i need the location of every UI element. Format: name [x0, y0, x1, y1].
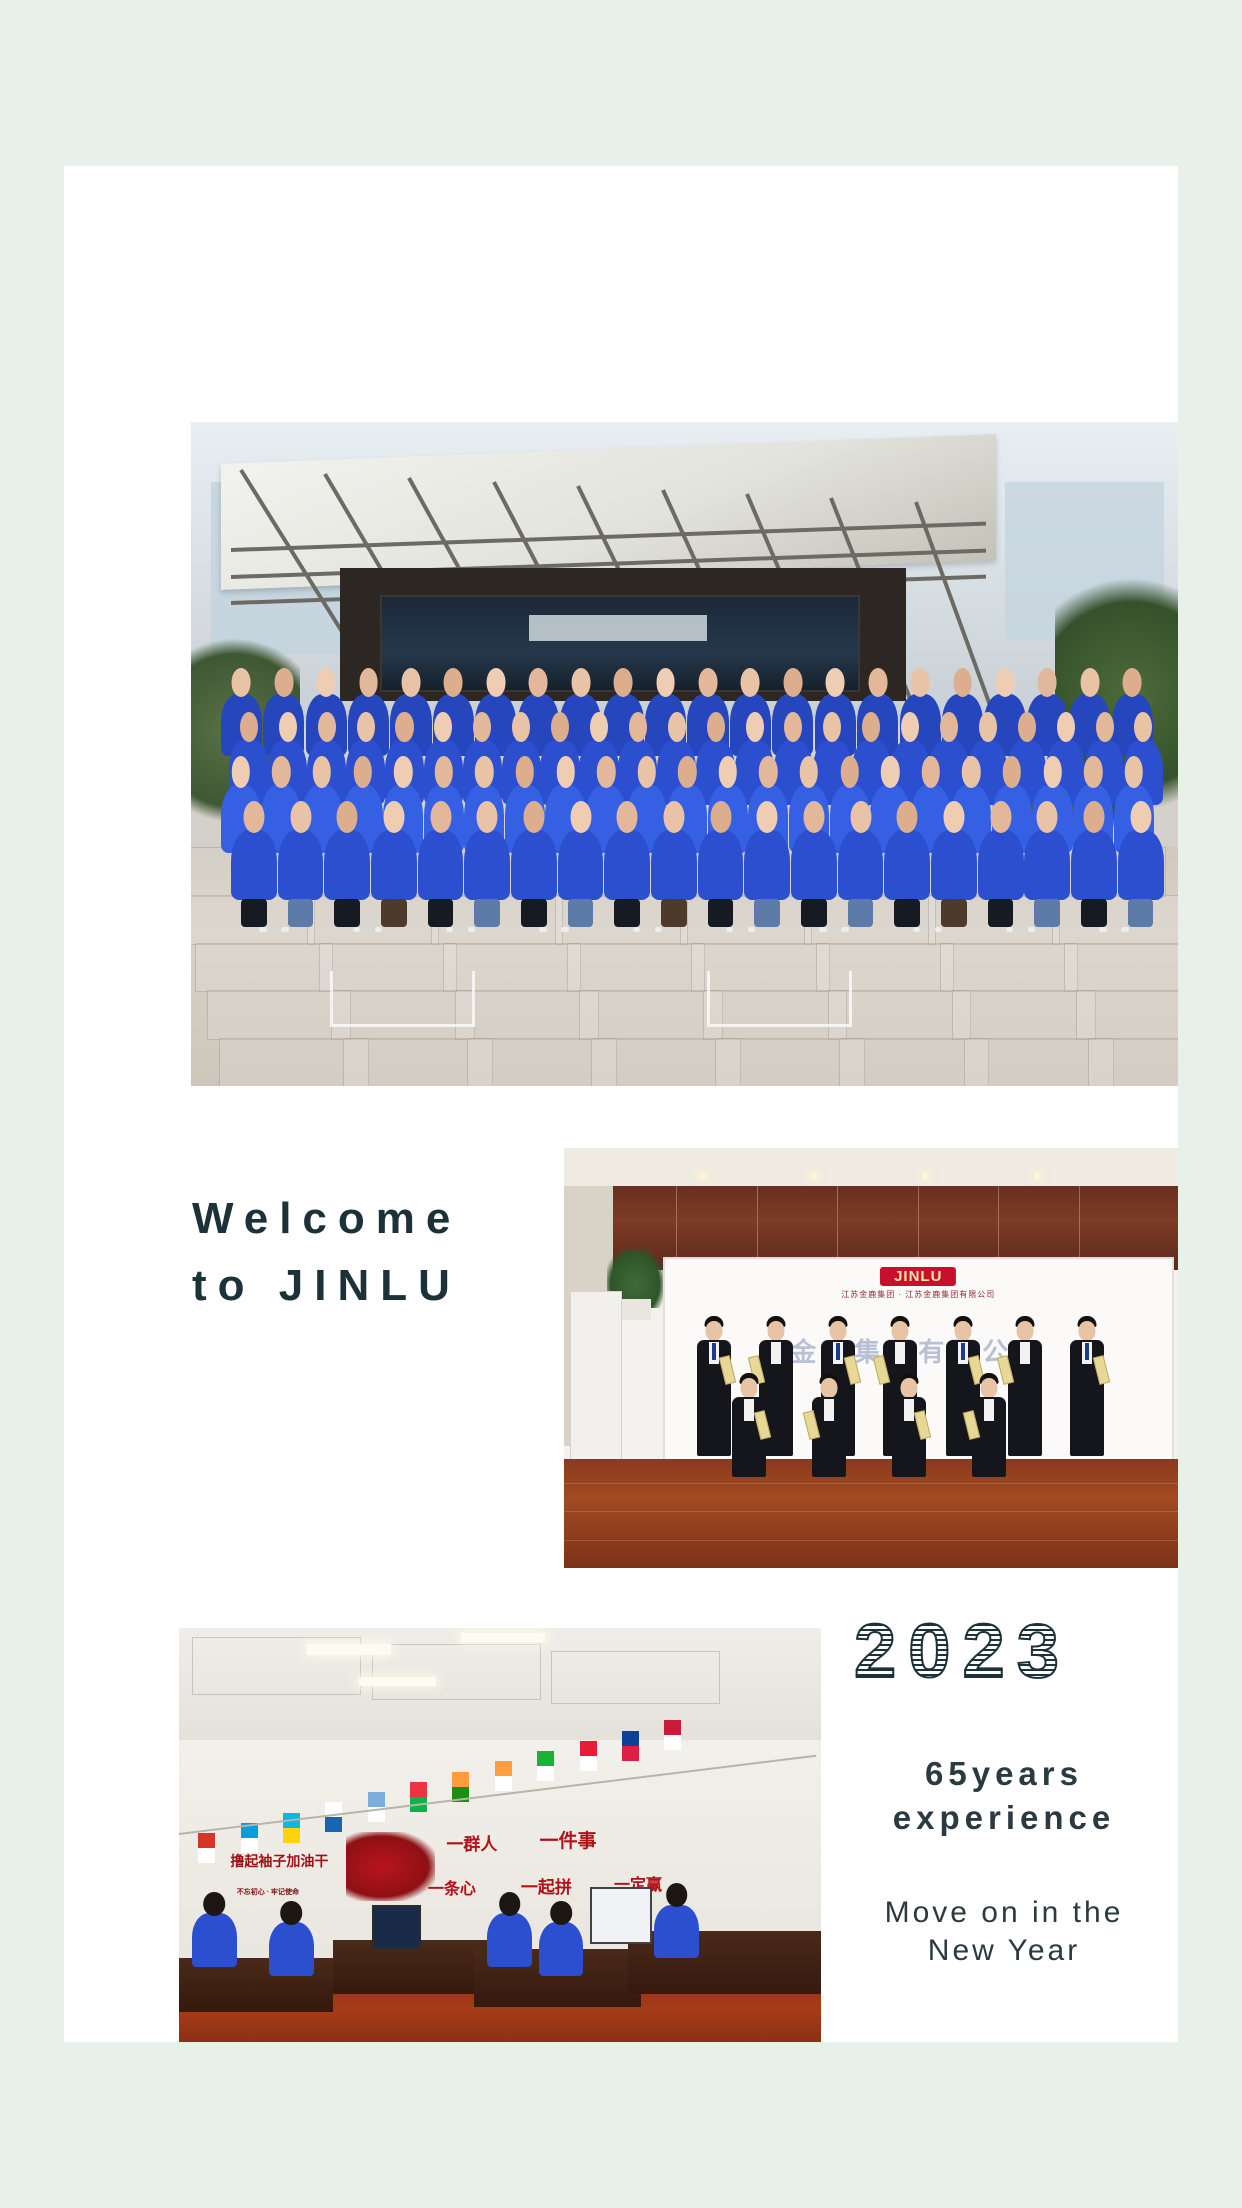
- photo3-monitor: [372, 1905, 421, 1949]
- photo1-staff-member: [604, 830, 650, 900]
- award-ceremony-photo: JINLU 江苏金鹿集团 · 江苏金鹿集团有限公司 金鹿集团有限公司: [564, 1148, 1178, 1568]
- photo1-staff-shoe: [655, 927, 662, 933]
- photo1-paving-tile: [307, 895, 439, 945]
- photo1-staff-member: [1024, 830, 1070, 900]
- photo3-ceiling-light: [307, 1644, 390, 1654]
- photo1-staff-member: [698, 830, 744, 900]
- photo3-slogan-line1b: 一件事: [540, 1826, 597, 1853]
- photo2-team-member-seated: [963, 1373, 1016, 1517]
- photo2-necktie: [712, 1343, 716, 1360]
- photo3-left-slogan: 撸起袖子加油干: [230, 1851, 328, 1871]
- tagline-line-2: New Year: [804, 1932, 1178, 1970]
- photo2-team-member-seated: [803, 1373, 856, 1517]
- photo3-country-flag: [325, 1802, 342, 1832]
- photo1-staff-legs: [474, 899, 500, 927]
- photo2-jinlu-logo: JINLU 江苏金鹿集团 · 江苏金鹿集团有限公司: [841, 1267, 995, 1300]
- photo1-staff-shoe: [353, 927, 360, 933]
- photo2-shirt: [984, 1399, 994, 1421]
- photo1-staff-member: [511, 830, 557, 900]
- photo3-ceiling-light: [359, 1677, 436, 1686]
- photo3-country-flag: [622, 1731, 639, 1761]
- tagline-line-1: Move on in the: [804, 1894, 1178, 1932]
- photo2-head: [767, 1321, 784, 1341]
- experience-block: 65years experience: [824, 1752, 1178, 1840]
- photo3-country-flag: [283, 1813, 300, 1843]
- photo1-staff-shoe: [561, 927, 568, 933]
- photo1-staff-legs: [1128, 899, 1154, 927]
- photo1-paving-tile: [1076, 990, 1178, 1040]
- photo1-staff-member: [324, 830, 370, 900]
- experience-line-2: experience: [824, 1796, 1178, 1840]
- photo3-employee: [192, 1913, 237, 1967]
- photo1-paving-tile: [195, 943, 333, 993]
- photo1-staff-legs: [381, 899, 407, 927]
- photo1-staff-shoe: [841, 927, 848, 933]
- photo3-country-flag: [495, 1761, 512, 1791]
- photo2-head: [1016, 1321, 1033, 1341]
- group-photo-building-entrance: [191, 422, 1178, 1086]
- photo1-staff-member: [1071, 830, 1117, 900]
- photo2-head: [830, 1321, 847, 1341]
- photo1-staff-crowd: [221, 694, 1154, 900]
- photo1-paving-tile: [952, 990, 1096, 1040]
- photo1-staff-member: [931, 830, 977, 900]
- photo1-staff-legs: [521, 899, 547, 927]
- photo2-head: [705, 1321, 722, 1341]
- photo1-staff-shoe: [259, 927, 266, 933]
- year-heading: 2023: [854, 1614, 1071, 1690]
- photo2-head: [954, 1321, 971, 1341]
- photo2-logo-subtitle: 江苏金鹿集团 · 江苏金鹿集团有限公司: [841, 1289, 995, 1300]
- photo1-staff-member: [651, 830, 697, 900]
- photo1-staff-legs: [848, 899, 874, 927]
- photo3-country-flag: [198, 1833, 215, 1863]
- photo3-employee: [269, 1922, 314, 1976]
- photo1-staff-member: [278, 830, 324, 900]
- photo1-paving-tile: [1064, 943, 1178, 993]
- photo1-staff-member: [1118, 830, 1164, 900]
- photo1-staff-member: [558, 830, 604, 900]
- photo2-head: [821, 1378, 838, 1398]
- photo1-staff-legs: [241, 899, 267, 927]
- photo2-head: [1079, 1321, 1096, 1341]
- photo3-country-flag: [664, 1720, 681, 1750]
- photo2-team-members: [669, 1316, 1114, 1534]
- photo1-staff-legs: [708, 899, 734, 927]
- photo1-staff-member: [371, 830, 417, 900]
- photo3-employee: [487, 1913, 532, 1967]
- photo1-paving-tile: [455, 990, 599, 1040]
- photo3-country-flag: [410, 1782, 427, 1812]
- photo3-slogan-line2b: 一起拼: [521, 1873, 572, 1898]
- photo3-country-flag: [241, 1823, 258, 1853]
- tagline-block: Move on in the New Year: [804, 1894, 1178, 1971]
- photo1-paving-tile: [940, 943, 1078, 993]
- photo3-monitor: [590, 1887, 652, 1945]
- photo1-staff-legs: [334, 899, 360, 927]
- headline-line-1: Welcome: [192, 1194, 461, 1243]
- photo2-head: [901, 1378, 918, 1398]
- photo1-staff-shoe: [375, 927, 382, 933]
- photo3-red-calligraphy: [346, 1832, 435, 1901]
- photo1-staff-legs: [941, 899, 967, 927]
- photo1-staff-shoe: [633, 927, 640, 933]
- photo2-plant-pot: [620, 1299, 651, 1320]
- photo1-staff-member: [464, 830, 510, 900]
- photo1-staff-legs: [801, 899, 827, 927]
- photo1-staff-member: [418, 830, 464, 900]
- photo1-staff-legs: [661, 899, 687, 927]
- photo2-head: [981, 1378, 998, 1398]
- photo3-employee: [539, 1922, 584, 1976]
- photo3-slogan-line1a: 一群人: [446, 1830, 497, 1855]
- office-interior-photo: 一群人 一件事 一条心 一起拼 一定赢 撸起袖子加油干 不忘初心 · 牢记使命: [179, 1628, 821, 2042]
- photo1-staff-legs: [754, 899, 780, 927]
- photo1-staff-legs: [614, 899, 640, 927]
- photo1-staff-member: [884, 830, 930, 900]
- photo1-staff-member: [978, 830, 1024, 900]
- photo2-necktie: [1085, 1343, 1089, 1360]
- poster-card: Welcome to JINLU JINLU 江苏金鹿集团 · 江苏金鹿集团有限…: [64, 166, 1178, 2042]
- photo2-shirt: [1020, 1342, 1030, 1364]
- photo2-necktie: [961, 1343, 965, 1360]
- photo3-employee: [654, 1905, 699, 1959]
- photo1-paving-tile: [680, 895, 812, 945]
- photo2-shirt: [744, 1399, 754, 1421]
- photo1-staff-shoe: [281, 927, 288, 933]
- headline-line-2: to JINLU: [192, 1253, 612, 1320]
- photo1-staff-member: [838, 830, 884, 900]
- photo3-left-subslogan: 不忘初心 · 牢记使命: [237, 1887, 299, 1897]
- photo3-ceiling-light: [461, 1633, 544, 1642]
- photo3-country-flag: [537, 1751, 554, 1781]
- photo2-shirt: [824, 1399, 834, 1421]
- photo1-staff-legs: [988, 899, 1014, 927]
- photo1-staff-shoe: [913, 927, 920, 933]
- photo1-staff-shoe: [539, 927, 546, 933]
- photo1-staff-legs: [1081, 899, 1107, 927]
- photo1-staff-legs: [1034, 899, 1060, 927]
- photo3-slogan-line2a: 一条心: [428, 1875, 476, 1899]
- photo1-staff-legs: [428, 899, 454, 927]
- photo1-staff-shoe: [1121, 927, 1128, 933]
- photo1-paving-tile: [1088, 1038, 1178, 1086]
- photo3-country-flag: [580, 1741, 597, 1771]
- photo1-staff-shoe: [935, 927, 942, 933]
- photo2-logo-text: JINLU: [880, 1267, 956, 1286]
- photo1-staff-shoe: [1099, 927, 1106, 933]
- photo2-team-member-seated: [722, 1373, 775, 1517]
- photo2-shirt: [895, 1342, 905, 1364]
- photo2-necktie: [836, 1343, 840, 1360]
- photo1-staff-shoe: [819, 927, 826, 933]
- photo1-staff-legs: [894, 899, 920, 927]
- photo1-staff-member: [231, 830, 277, 900]
- photo2-head: [741, 1378, 758, 1398]
- photo1-staff-member: [744, 830, 790, 900]
- photo2-team-member-seated: [883, 1373, 936, 1517]
- photo1-paving-tile: [567, 943, 705, 993]
- photo1-staff-legs: [288, 899, 314, 927]
- photo2-shirt: [771, 1342, 781, 1364]
- headline-welcome: Welcome to JINLU: [192, 1186, 612, 1320]
- photo2-head: [892, 1321, 909, 1341]
- photo1-parking-line: [330, 971, 475, 1027]
- photo2-team-member: [1061, 1316, 1114, 1504]
- photo1-staff-legs: [568, 899, 594, 927]
- photo1-door-sign: [529, 615, 708, 642]
- photo2-shirt: [904, 1399, 914, 1421]
- experience-line-1: 65years: [824, 1752, 1178, 1796]
- photo1-paving-tile: [1052, 895, 1178, 945]
- photo1-staff-member: [791, 830, 837, 900]
- photo1-parking-line: [707, 971, 852, 1027]
- photo3-ceiling: [179, 1628, 821, 1744]
- photo1-paving-tile: [579, 990, 723, 1040]
